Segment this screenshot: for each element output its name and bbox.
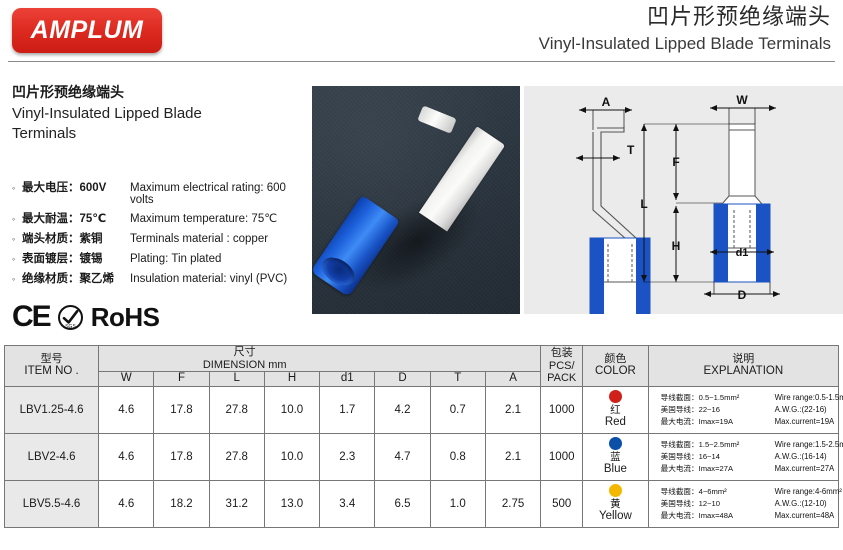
product-subtitle-en-line1: Vinyl-Insulated Lipped Blade: [12, 104, 307, 124]
product-subtitle-en-line2: Terminals: [12, 124, 307, 144]
datasheet-page: AMPLUM 凹片形预绝缘端头 Vinyl-Insulated Lipped B…: [0, 0, 843, 550]
cell-d: 4.2: [375, 387, 430, 434]
header-item-no-cn: 型号: [5, 353, 98, 366]
expl-en-line-3: Max.current=19A: [775, 416, 843, 428]
header-titles: 凹片形预绝缘端头 Vinyl-Insulated Lipped Blade Te…: [539, 2, 831, 55]
color-dot-icon: [609, 437, 622, 450]
cell-l: 31.2: [209, 481, 264, 528]
expl-en-line-3: Max.current=27A: [775, 463, 843, 475]
page-header: AMPLUM 凹片形预绝缘端头 Vinyl-Insulated Lipped B…: [0, 0, 843, 62]
header-pack: 包装 PCS/ PACK: [541, 346, 583, 387]
cell-pack: 1000: [541, 387, 583, 434]
color-dot-icon: [609, 390, 622, 403]
cell-a: 2.1: [485, 387, 540, 434]
expl-cn-line-3: 最大电流：Imax=48A: [661, 510, 765, 522]
cell-l: 27.8: [209, 387, 264, 434]
header-dimension-en: DIMENSION mm: [99, 359, 390, 372]
spec-label-cn: 绝缘材质：聚乙烯: [22, 270, 130, 286]
spec-label-cn: 最大电压：600V: [22, 179, 130, 195]
spec-item: ◦ 表面镀层：镀锡 Plating: Tin plated: [12, 250, 307, 266]
cell-w: 4.6: [99, 434, 154, 481]
spec-label-en: Maximum temperature: 75℃: [130, 211, 277, 225]
color-name-cn: 蓝: [583, 451, 647, 463]
header-dim-d1: d1: [320, 372, 375, 387]
expl-en-line-2: A.W.G.:(16-14): [775, 451, 843, 463]
expl-en-line-3: Max.current=48A: [775, 510, 842, 522]
header-color: 颜色 COLOR: [583, 346, 648, 387]
cell-a: 2.75: [485, 481, 540, 528]
spec-item: ◦ 最大电压：600V Maximum electrical rating: 6…: [12, 179, 307, 206]
side-view-drawing: [576, 107, 650, 314]
cell-pack: 1000: [541, 434, 583, 481]
cell-color: 黄 Yellow: [583, 481, 648, 528]
cell-color: 红 Red: [583, 387, 648, 434]
expl-cn-line-3: 最大电流：Imax=19A: [661, 416, 765, 428]
header-item-no-en: ITEM NO .: [5, 365, 98, 379]
cell-explanation: 导线截面：4~6mm² 美国导线：12~10 最大电流：Imax=48A Wir…: [648, 481, 838, 528]
header-color-cn: 颜色: [583, 353, 647, 366]
header-pack-cn: 包装: [541, 347, 582, 360]
color-name-cn: 黄: [583, 498, 647, 510]
color-dot-icon: [609, 484, 622, 497]
page-title-en: Vinyl-Insulated Lipped Blade Terminals: [539, 33, 831, 55]
cell-h: 13.0: [264, 481, 319, 528]
table-row: LBV2-4.6 4.6 17.8 27.8 10.0 2.3 4.7 0.8 …: [5, 434, 839, 481]
expl-cn-line-2: 美国导线：12~10: [661, 498, 765, 510]
brand-logo-text: AMPLUM: [31, 16, 144, 45]
header-divider: [8, 61, 835, 62]
circle-bullet-icon: ◦: [12, 255, 22, 264]
cell-d1: 1.7: [320, 387, 375, 434]
circle-bullet-icon: ◦: [12, 275, 22, 284]
spec-item: ◦ 绝缘材质：聚乙烯 Insulation material: vinyl (P…: [12, 270, 307, 286]
drawings-svg: A T: [524, 86, 843, 314]
product-overview-section: 凹片形预绝缘端头 Vinyl-Insulated Lipped Blade Te…: [0, 64, 843, 338]
cell-w: 4.6: [99, 481, 154, 528]
header-dimension-group: 尺寸 DIMENSION mm: [99, 346, 541, 372]
front-view-label-F: F: [672, 155, 679, 169]
expl-en-line-2: A.W.G.:(12-10): [775, 498, 842, 510]
table-header-row-1: 型号 ITEM NO . 尺寸 DIMENSION mm 包装 PCS/ PAC…: [5, 346, 839, 372]
header-pack-en-2: PACK: [541, 372, 582, 385]
cell-h: 10.0: [264, 434, 319, 481]
ce-icon: CE: [12, 302, 50, 332]
svg-text:SGS: SGS: [65, 324, 76, 330]
table-head: 型号 ITEM NO . 尺寸 DIMENSION mm 包装 PCS/ PAC…: [5, 346, 839, 387]
expl-cn-line-1: 导线截面：4~6mm²: [661, 486, 765, 498]
expl-cn-line-2: 美国导线：22~16: [661, 404, 765, 416]
spec-label-en: Terminals material : copper: [130, 233, 268, 245]
expl-en-line-1: Wire range:0.5-1.5mm²: [775, 392, 843, 404]
brand-logo: AMPLUM: [12, 8, 162, 53]
cell-item-no: LBV1.25-4.6: [5, 387, 99, 434]
header-color-en: COLOR: [583, 365, 647, 379]
circle-bullet-icon: ◦: [12, 215, 22, 224]
product-subtitle-cn: 凹片形预绝缘端头: [12, 82, 307, 103]
color-name-en: Red: [583, 416, 647, 430]
spec-label-cn: 表面镀层：镀锡: [22, 250, 130, 266]
expl-en-line-1: Wire range:4-6mm²: [775, 486, 842, 498]
header-explanation-cn: 说明: [649, 353, 838, 366]
cell-explanation: 导线截面：1.5~2.5mm² 美国导线：16~14 最大电流：Imax=27A…: [648, 434, 838, 481]
header-dim-w: W: [99, 372, 154, 387]
specification-table-wrapper: 型号 ITEM NO . 尺寸 DIMENSION mm 包装 PCS/ PAC…: [4, 345, 839, 528]
front-view-label-L: L: [640, 197, 647, 211]
cell-d: 6.5: [375, 481, 430, 528]
side-view-label-A: A: [602, 95, 611, 109]
rohs-label: RoHS: [91, 302, 160, 333]
expl-en-line-2: A.W.G.:(22-16): [775, 404, 843, 416]
circle-bullet-icon: ◦: [12, 235, 22, 244]
certification-marks: CE SGS RoHS: [12, 302, 307, 333]
color-name-cn: 红: [583, 404, 647, 416]
side-view-label-T: T: [627, 143, 635, 157]
cell-t: 0.7: [430, 387, 485, 434]
front-view-drawing: [641, 105, 780, 297]
spec-label-en: Plating: Tin plated: [130, 253, 221, 265]
cell-t: 0.8: [430, 434, 485, 481]
spec-label-en: Maximum electrical rating: 600 volts: [130, 182, 307, 206]
header-dim-f: F: [154, 372, 209, 387]
table-row: LBV1.25-4.6 4.6 17.8 27.8 10.0 1.7 4.2 0…: [5, 387, 839, 434]
header-dimension-cn: 尺寸: [99, 346, 390, 359]
expl-cn-line-1: 导线截面：1.5~2.5mm²: [661, 439, 765, 451]
table-row: LBV5.5-4.6 4.6 18.2 31.2 13.0 3.4 6.5 1.…: [5, 481, 839, 528]
cell-pack: 500: [541, 481, 583, 528]
specification-list: ◦ 最大电压：600V Maximum electrical rating: 6…: [12, 179, 307, 286]
header-pack-en-1: PCS/: [541, 360, 582, 373]
cell-d1: 2.3: [320, 434, 375, 481]
cell-explanation: 导线截面：0.5~1.5mm² 美国导线：22~16 最大电流：Imax=19A…: [648, 387, 838, 434]
product-info-column: 凹片形预绝缘端头 Vinyl-Insulated Lipped Blade Te…: [12, 82, 307, 333]
cell-w: 4.6: [99, 387, 154, 434]
color-name-en: Blue: [583, 463, 647, 477]
spec-item: ◦ 最大耐温：75℃ Maximum temperature: 75℃: [12, 210, 307, 226]
cell-a: 2.1: [485, 434, 540, 481]
front-view-label-W: W: [736, 93, 748, 107]
header-dim-d: D: [375, 372, 430, 387]
product-photo: [312, 86, 520, 314]
sgs-check-icon: SGS: [57, 304, 84, 331]
header-explanation-en: EXPLANATION: [649, 365, 838, 379]
cell-h: 10.0: [264, 387, 319, 434]
specification-table: 型号 ITEM NO . 尺寸 DIMENSION mm 包装 PCS/ PAC…: [4, 345, 839, 528]
front-view-label-d1: d1: [736, 247, 749, 259]
spec-label-en: Insulation material: vinyl (PVC): [130, 273, 287, 285]
cell-f: 17.8: [154, 434, 209, 481]
circle-bullet-icon: ◦: [12, 184, 22, 193]
cell-l: 27.8: [209, 434, 264, 481]
cell-item-no: LBV2-4.6: [5, 434, 99, 481]
expl-en-line-1: Wire range:1.5-2.5mm²: [775, 439, 843, 451]
header-dim-l: L: [209, 372, 264, 387]
header-dim-t: T: [430, 372, 485, 387]
header-explanation: 说明 EXPLANATION: [648, 346, 838, 387]
technical-drawings-panel: A T: [524, 86, 843, 314]
table-body: LBV1.25-4.6 4.6 17.8 27.8 10.0 1.7 4.2 0…: [5, 387, 839, 528]
product-subtitle-en: Vinyl-Insulated Lipped Blade Terminals: [12, 104, 307, 145]
header-item-no: 型号 ITEM NO .: [5, 346, 99, 387]
cell-f: 18.2: [154, 481, 209, 528]
cell-color: 蓝 Blue: [583, 434, 648, 481]
expl-cn-line-3: 最大电流：Imax=27A: [661, 463, 765, 475]
page-title-cn: 凹片形预绝缘端头: [539, 2, 831, 32]
color-name-en: Yellow: [583, 510, 647, 524]
spec-label-cn: 端头材质：紫铜: [22, 230, 130, 246]
expl-cn-line-1: 导线截面：0.5~1.5mm²: [661, 392, 765, 404]
front-view-label-D: D: [738, 288, 747, 302]
header-dim-a: A: [485, 372, 540, 387]
spec-item: ◦ 端头材质：紫铜 Terminals material : copper: [12, 230, 307, 246]
expl-cn-line-2: 美国导线：16~14: [661, 451, 765, 463]
front-view-label-H: H: [672, 239, 681, 253]
cell-item-no: LBV5.5-4.6: [5, 481, 99, 528]
cell-d: 4.7: [375, 434, 430, 481]
spec-label-cn: 最大耐温：75℃: [22, 210, 130, 226]
cell-f: 17.8: [154, 387, 209, 434]
cell-t: 1.0: [430, 481, 485, 528]
cell-d1: 3.4: [320, 481, 375, 528]
header-dim-h: H: [264, 372, 319, 387]
